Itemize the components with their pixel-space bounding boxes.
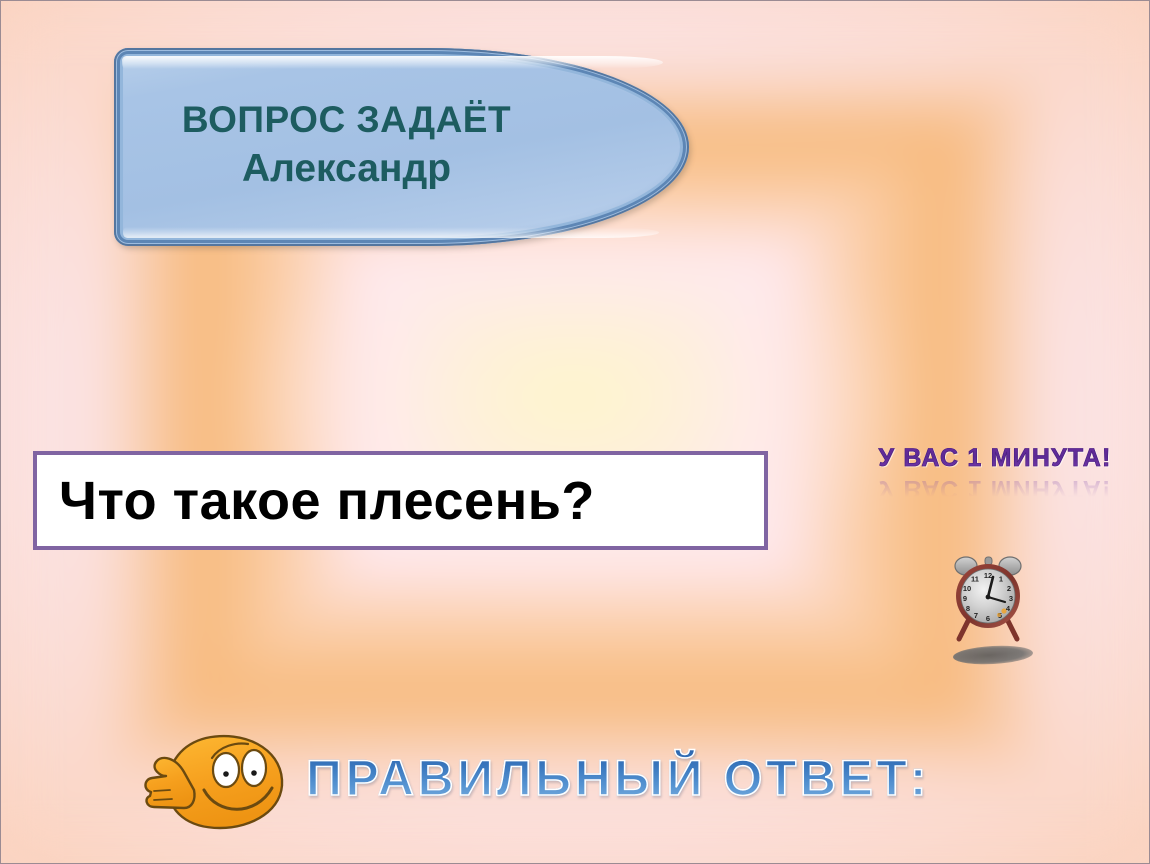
- background-ring: [516, 357, 624, 437]
- background-ring: [299, 207, 845, 616]
- svg-text:7: 7: [974, 611, 978, 620]
- background-ring: [543, 375, 596, 414]
- background-ring: [489, 338, 651, 459]
- answer-wordart: ПРАВИЛЬНЫЙ ОТВЕТ:: [306, 749, 1006, 819]
- timer-label: У ВАС 1 МИНУТА!: [857, 444, 1133, 473]
- answer-label: ПРАВИЛЬНЫЙ ОТВЕТ:: [306, 749, 1006, 807]
- svg-text:6: 6: [986, 614, 990, 623]
- background-ring: [480, 332, 661, 467]
- background-ring: [254, 176, 891, 654]
- background-ring: [290, 201, 854, 624]
- alarm-clock-icon: 12 1 2 3 4 5 6 7 8 9 10 11: [947, 553, 1031, 645]
- timer-wordart: У ВАС 1 МИНУТА! У ВАС 1 МИНУТА!: [857, 444, 1133, 496]
- background-ring: [263, 182, 882, 646]
- svg-text:12: 12: [984, 571, 992, 580]
- svg-text:1: 1: [999, 575, 1003, 584]
- svg-text:11: 11: [971, 575, 979, 584]
- asker-banner-text: ВОПРОС ЗАДАЁТ Александр: [114, 48, 689, 246]
- svg-text:10: 10: [963, 584, 971, 593]
- svg-text:3: 3: [1009, 594, 1013, 603]
- asker-banner-name: Александр: [242, 146, 451, 191]
- svg-text:8: 8: [966, 604, 970, 613]
- alarm-clock-shadow: [953, 644, 1034, 666]
- timer-label-reflection: У ВАС 1 МИНУТА!: [857, 474, 1133, 503]
- asker-banner-title: ВОПРОС ЗАДАЁТ: [182, 99, 511, 142]
- question-text: Что такое плесень?: [59, 474, 595, 528]
- background-ring: [525, 363, 614, 430]
- background-ring: [552, 382, 587, 407]
- quiz-slide: ВОПРОС ЗАДАЁТ Александр Что такое плесен…: [0, 0, 1150, 864]
- background-ring: [561, 388, 577, 400]
- thumbs-up-smiley-icon: [140, 728, 292, 832]
- svg-text:9: 9: [963, 594, 967, 603]
- background-ring: [534, 369, 605, 422]
- background-ring: [272, 188, 872, 639]
- background-ring: [507, 350, 633, 444]
- svg-text:2: 2: [1007, 584, 1011, 593]
- background-ring: [281, 194, 863, 631]
- asker-banner: ВОПРОС ЗАДАЁТ Александр: [114, 48, 689, 246]
- question-box: Что такое плесень?: [33, 451, 768, 550]
- background-ring: [498, 344, 642, 452]
